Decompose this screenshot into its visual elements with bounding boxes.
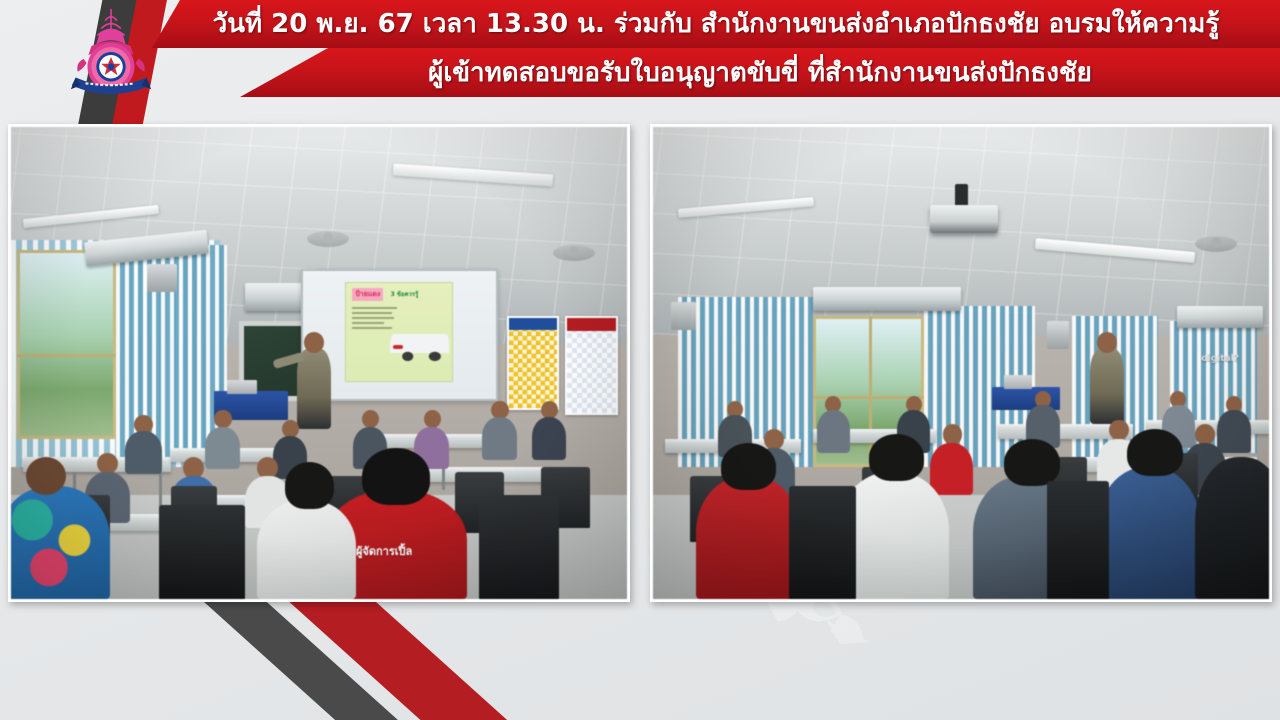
laptop (1004, 375, 1032, 389)
shirt-text-right-photo: digital? (1201, 354, 1239, 364)
projector-mount (955, 184, 969, 208)
foreground-chair (789, 486, 857, 599)
attendee-head (764, 429, 784, 450)
slide-title: ป้ายแดง (352, 288, 383, 301)
attendee-head (282, 420, 299, 438)
wall-speaker-2 (1047, 321, 1069, 349)
foreground-attendee-red-head (721, 443, 776, 490)
foreground-attendee-red-head (362, 448, 430, 505)
wall-speaker (671, 302, 696, 330)
presenter-head (304, 332, 324, 353)
window-mullion (869, 316, 872, 467)
photo-left-frame: ป้ายแดง 3 ข้อควรรู้ (8, 124, 630, 602)
window-mullion (17, 354, 116, 357)
wall-speaker (147, 264, 178, 292)
presenter-head (1097, 332, 1117, 353)
laptop (227, 380, 258, 394)
foreground-attendee-red (696, 476, 801, 599)
presentation-slide: ป้ายแดง 3 ข้อควรรู้ (345, 282, 453, 382)
slide-subtitle: 3 ข้อควรรู้ (391, 289, 419, 299)
photo-right: digital? (653, 127, 1269, 599)
regulatory-signs-poster (565, 316, 617, 415)
slide-car-image (390, 322, 449, 365)
photo-left: ป้ายแดง 3 ข้อควรรู้ (11, 127, 627, 599)
attendee-body (205, 427, 239, 469)
attendee-body (482, 417, 516, 459)
shirt-text-left-photo: ผู้จัดการเปิ้ล (356, 542, 412, 560)
foreground-attendee-white (257, 500, 356, 599)
foreground-attendee-right (1195, 457, 1269, 599)
warning-signs-poster (507, 316, 559, 410)
attendee-body (930, 443, 973, 495)
ceiling-fan-2 (553, 245, 595, 261)
attendee-head (1195, 424, 1215, 445)
attendee-body (125, 431, 162, 473)
attendee-body (817, 410, 850, 452)
attendee-body (1217, 410, 1250, 452)
poster-header-2 (567, 318, 615, 331)
foreground-chair (1047, 481, 1109, 599)
attendee-head (943, 424, 963, 445)
foreground-attendee-dark-head (1004, 439, 1059, 486)
foreground-chair (159, 505, 245, 599)
attendee-head (1109, 420, 1129, 441)
air-conditioner-unit-2 (1177, 306, 1263, 327)
attendee-head (424, 410, 441, 428)
foreground-attendee-white-head (285, 462, 334, 509)
foreground-attendee-blue (1097, 467, 1202, 599)
presenter-body (297, 349, 331, 429)
attendee-head (214, 410, 231, 428)
ceiling-projector (930, 205, 998, 233)
presenter-body (1090, 349, 1124, 425)
attendee-body (532, 417, 566, 459)
slide-body-lines (352, 307, 397, 332)
foreground-attendee-white-head (869, 434, 924, 481)
ceiling-fan (307, 231, 349, 247)
foreground-attendee-left (11, 486, 110, 599)
photo-right-frame: digital? (650, 124, 1272, 602)
ceiling-fan (1195, 236, 1237, 252)
air-conditioner-unit (813, 287, 961, 311)
attendee-head (541, 401, 558, 419)
attendee-head (491, 401, 508, 419)
foreground-attendee-blue-head (1127, 429, 1182, 476)
poster-header (509, 318, 557, 331)
organization-emblem-icon (62, 4, 160, 104)
foreground-chair (479, 495, 559, 599)
window-glass-left (17, 250, 116, 439)
